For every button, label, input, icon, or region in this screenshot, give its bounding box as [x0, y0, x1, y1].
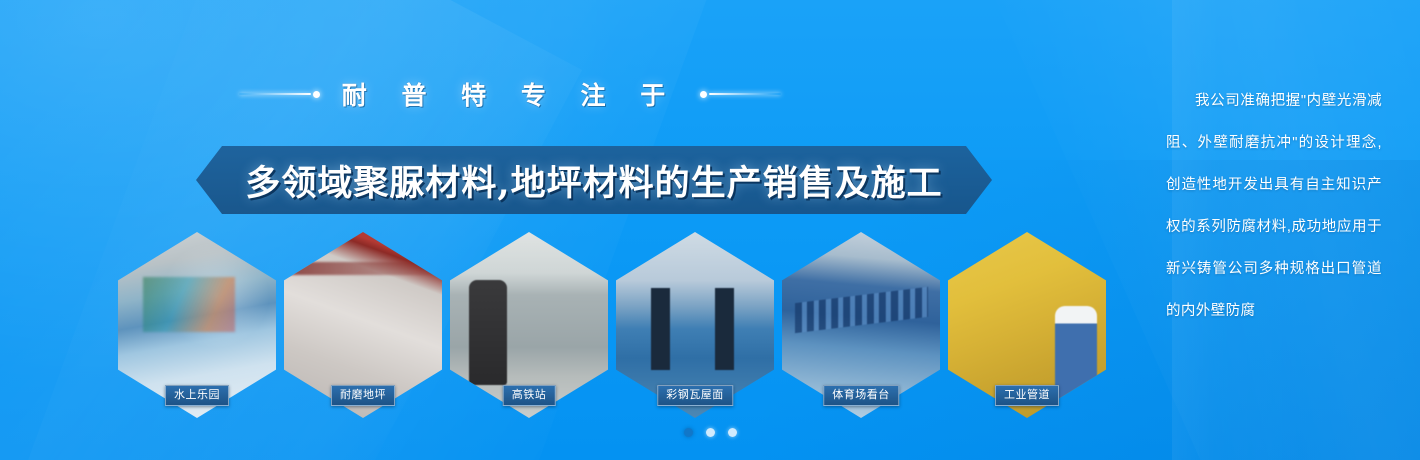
carousel-dots — [0, 428, 1420, 437]
decorative-dot-right — [700, 91, 707, 98]
carousel-dot-2[interactable] — [706, 428, 715, 437]
carousel-dot-3[interactable] — [728, 428, 737, 437]
thumbnail-label: 水上乐园 — [165, 385, 229, 406]
thumbnail-row: 水上乐园 耐磨地坪 高铁站 彩钢瓦屋面 体育场看台 — [118, 232, 1158, 418]
hero-banner: 耐 普 特 专 注 于 多领域聚脲材料,地坪材料的生产销售及施工 水上乐园 耐磨… — [0, 0, 1420, 460]
headline-text: 多领域聚脲材料,地坪材料的生产销售及施工 — [196, 146, 992, 214]
thumbnail-label: 高铁站 — [503, 385, 556, 406]
decorative-dot-left — [313, 91, 320, 98]
thumbnail-stadium-grandstand[interactable]: 体育场看台 — [782, 232, 940, 418]
thumbnail-industrial-pipeline[interactable]: 工业管道 — [948, 232, 1106, 418]
thumbnail-high-speed-rail-station[interactable]: 高铁站 — [450, 232, 608, 418]
company-description-text: 我公司准确把握"内壁光滑减阻、外壁耐磨抗冲"的设计理念,创造性地开发出具有自主知… — [1166, 80, 1382, 332]
decorative-bar-left — [239, 93, 311, 95]
thumbnail-label: 体育场看台 — [823, 385, 899, 406]
decorative-bar-right — [709, 93, 781, 95]
carousel-dot-1[interactable] — [684, 428, 693, 437]
headline-banner: 多领域聚脲材料,地坪材料的生产销售及施工 — [196, 146, 992, 214]
company-description: 我公司准确把握"内壁光滑减阻、外壁耐磨抗冲"的设计理念,创造性地开发出具有自主知… — [1166, 80, 1382, 332]
decorative-line-left — [239, 91, 320, 98]
thumbnail-label: 彩钢瓦屋面 — [657, 385, 733, 406]
eyebrow-row: 耐 普 特 专 注 于 — [0, 76, 1020, 112]
thumbnail-water-park[interactable]: 水上乐园 — [118, 232, 276, 418]
decorative-line-right — [700, 91, 781, 98]
thumbnail-label: 耐磨地坪 — [331, 385, 395, 406]
eyebrow-text: 耐 普 特 专 注 于 — [342, 76, 679, 112]
thumbnail-wear-resistant-floor[interactable]: 耐磨地坪 — [284, 232, 442, 418]
thumbnail-label: 工业管道 — [995, 385, 1059, 406]
thumbnail-color-steel-tile-roof[interactable]: 彩钢瓦屋面 — [616, 232, 774, 418]
